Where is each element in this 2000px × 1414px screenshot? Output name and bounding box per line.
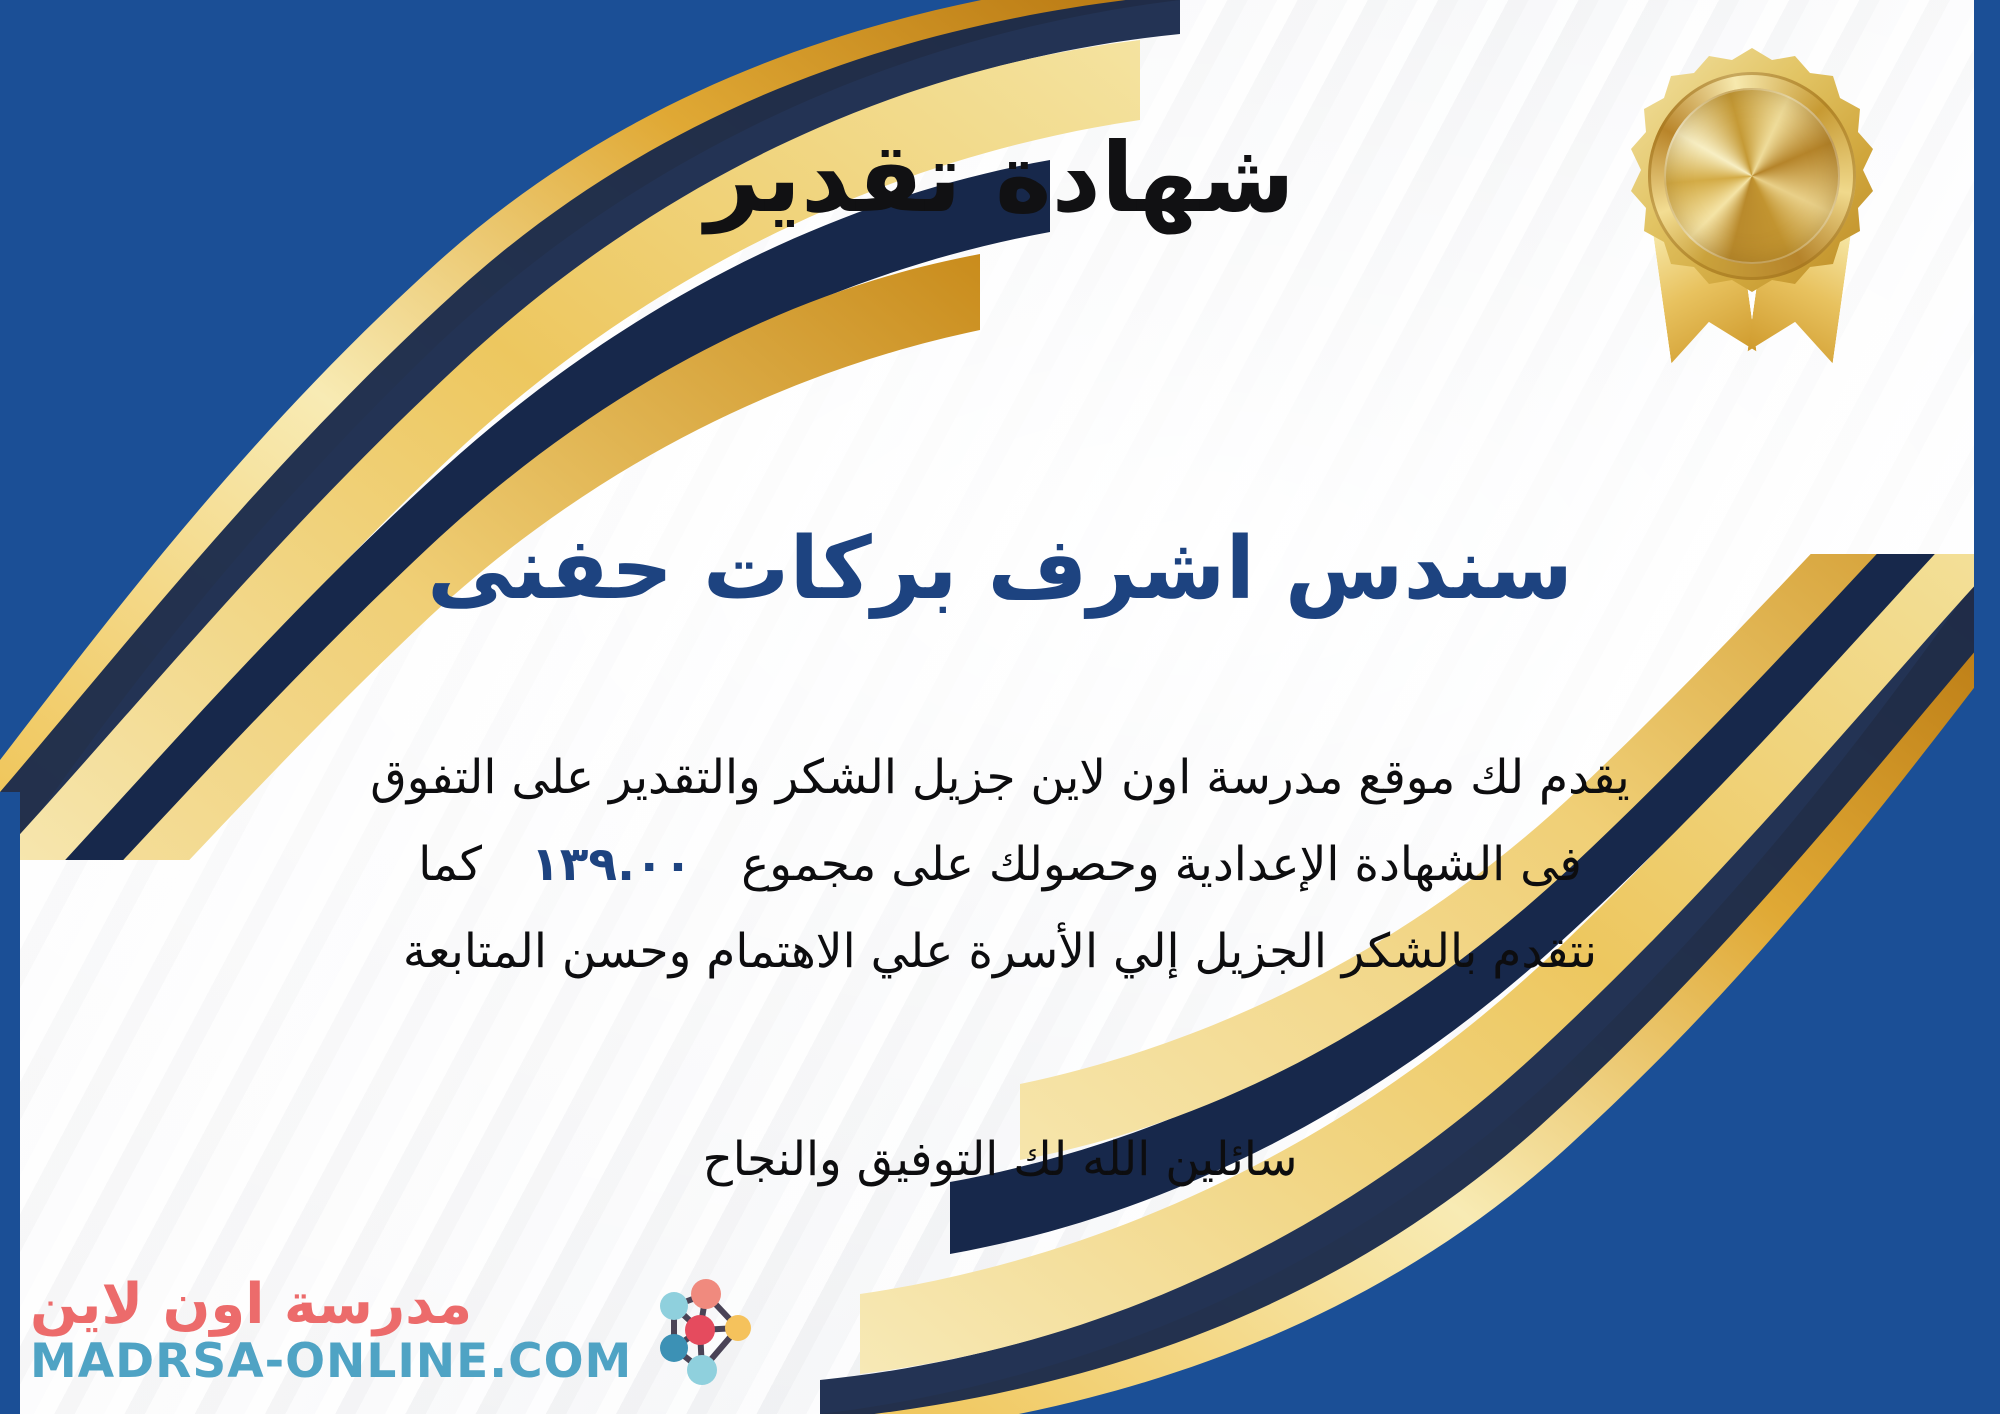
score-value: ١٣٩.٠٠ [497,822,726,909]
certificate-body: يقدم لك موقع مدرسة اون لاين جزيل الشكر و… [70,735,1930,996]
certificate-page: شهادة تقدير سندس اشرف بركات حفنى يقدم لك… [0,0,2000,1414]
logo-arabic-name: مدرسة اون لاين [30,1276,632,1335]
logo-website-url: MADRSA-ONLINE.COM [30,1337,632,1386]
recipient-name: سندس اشرف بركات حفنى [0,520,2000,619]
body-line-1: يقدم لك موقع مدرسة اون لاين جزيل الشكر و… [70,735,1930,822]
body-line-2-suffix: كما [418,837,482,892]
logo-text-block: مدرسة اون لاين MADRSA-ONLINE.COM [30,1276,632,1386]
certificate-title: شهادة تقدير [0,126,2000,232]
body-line-2: فى الشهادة الإعدادية وحصولك على مجموع ١٣… [70,822,1930,909]
body-line-2-prefix: فى الشهادة الإعدادية وحصولك على مجموع [741,837,1582,892]
network-graph-icon [644,1272,752,1390]
closing-line: سائلين الله لك التوفيق والنجاح [0,1122,2000,1197]
body-line-3: نتقدم بالشكر الجزيل إلي الأسرة علي الاهت… [70,909,1930,996]
site-logo[interactable]: مدرسة اون لاين MADRSA-ONLINE.COM [30,1272,752,1390]
